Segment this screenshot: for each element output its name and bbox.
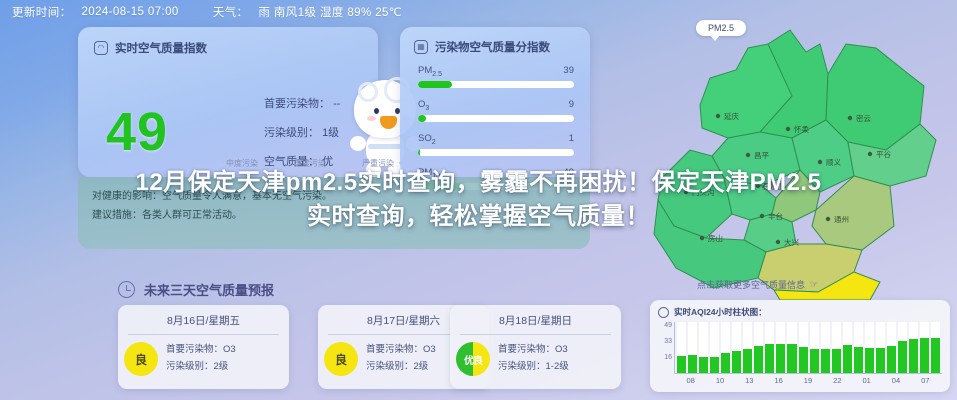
chart-bar-fill: [832, 349, 841, 373]
chart-bar: [810, 322, 819, 373]
pollutant-o3-track: [418, 115, 574, 122]
chart-bar: [865, 322, 874, 373]
svg-text:昌平: 昌平: [754, 151, 769, 160]
pollutant-o3-header: O3 9: [418, 99, 574, 112]
forecast-card-day3[interactable]: 8月18日/星期日 优良 首要污染物：O3 污染级别：1-2级: [450, 305, 621, 389]
chart-bar-fill: [776, 344, 785, 373]
svg-text:怀柔: 怀柔: [794, 124, 809, 134]
pollutant-o3-fill: [418, 115, 426, 122]
forecast-level-day3: 污染级别：1-2级: [498, 359, 569, 376]
forecast-pollutant-day2: 首要污染物：O3: [366, 342, 436, 359]
pollutant-so2-fill: [418, 149, 420, 156]
forecast-lines-day1: 首要污染物：O3 污染级别：2级: [166, 342, 236, 375]
pollutant-pm25-fill: [418, 81, 452, 88]
health-impact-label: 对健康的影响：: [92, 191, 162, 202]
beijing-district-map[interactable]: 延庆 怀柔 密云 昌平 顺义 平谷 门头沟 石景山 丰台 通州 房山 大兴: [640, 0, 957, 300]
chart-bar-fill: [710, 357, 719, 373]
chart-bar-fill: [887, 346, 896, 373]
chart-xtick: 07: [911, 376, 940, 385]
chart-bar: [821, 322, 830, 373]
chart-bar: [743, 322, 752, 373]
forecast-card-day1[interactable]: 8月16日/星期五 良 首要污染物：O3 污染级别：2级: [118, 305, 289, 389]
pollutant-pm25-track: [418, 81, 574, 88]
aqi-card-header: ◠ 实时空气质量指数: [94, 40, 207, 56]
chart-bar-fill: [876, 348, 885, 373]
chart-bar-fill: [699, 357, 708, 373]
chart-bar-fill: [688, 355, 697, 373]
health-advice-panel: 对健康的影响：空气质量令人满意，基本无空气污染。 建议措施：各类人群可正常活动。: [78, 177, 590, 249]
chart-bar-fill: [765, 344, 774, 373]
chart-bar: [721, 322, 730, 373]
chart-bar-fill: [843, 345, 852, 373]
chart-bar: [710, 322, 719, 373]
chart-header: 实时AQI24小时柱状图：: [658, 306, 942, 318]
svg-text:通州: 通州: [834, 214, 849, 224]
forecast-lines-day3: 首要污染物：O3 污染级别：1-2级: [498, 342, 569, 375]
pollutant-so2-value: 1: [569, 133, 574, 146]
pollutant-card-title: 污染物空气质量分指数: [435, 39, 550, 55]
grid-icon: ▦: [414, 40, 428, 54]
scale-label-moderate: 中度污染: [226, 158, 258, 174]
realtime-aqi-card[interactable]: ◠ 实时空气质量指数 49 首要污染物： -- 污染级别： 1级 空气质量： 优: [78, 27, 378, 177]
chart-bar: [765, 322, 774, 373]
health-impact-text: 空气质量令人满意，基本无空气污染。: [162, 191, 332, 202]
chart-bar-fill: [732, 351, 741, 373]
chart-bar: [931, 322, 940, 373]
chart-x-axis: 081013161922010407: [674, 374, 942, 385]
aqi-24h-chart-card[interactable]: 实时AQI24小时柱状图： 49 33 16 08101316192201040…: [650, 300, 950, 392]
chart-icon: [658, 307, 669, 318]
svg-text:平谷: 平谷: [876, 150, 891, 159]
suggested-measure-text: 各类人群可正常活动。: [142, 210, 242, 221]
cursor-icon: ☞: [810, 279, 818, 290]
chart-bar: [854, 322, 863, 373]
pollutant-row-o3: O3 9: [418, 99, 574, 122]
chart-ytick-1: 33: [664, 338, 672, 345]
chart-xtick: 08: [676, 376, 705, 385]
chart-xtick: 22: [823, 376, 852, 385]
chart-bar-fill: [743, 349, 752, 373]
pollutant-o3-name: O3: [418, 99, 429, 112]
chart-xtick: 10: [705, 376, 734, 385]
forecast-body-day1: 良 首要污染物：O3 污染级别：2级: [118, 335, 289, 376]
forecast-pollutant-day3: 首要污染物：O3: [498, 342, 569, 359]
svg-text:大兴: 大兴: [784, 237, 799, 247]
forecast-pollutant-day1: 首要污染物：O3: [166, 342, 236, 359]
svg-text:石景山: 石景山: [762, 181, 785, 191]
health-impact-line: 对健康的影响：空气质量令人满意，基本无空气污染。: [92, 187, 576, 206]
pollutant-index-card[interactable]: ▦ 污染物空气质量分指数 PM2.5 39 O3 9: [400, 27, 590, 177]
chart-title: 实时AQI24小时柱状图：: [674, 306, 767, 318]
map-svg: 延庆 怀柔 密云 昌平 顺义 平谷 门头沟 石景山 丰台 通州 房山 大兴: [640, 0, 957, 300]
scale-label-severe: 严重污染: [362, 158, 394, 174]
chart-bar: [677, 322, 686, 373]
pollutant-o3-value: 9: [569, 99, 574, 112]
update-time-value: 2024-08-15 07:00: [82, 6, 179, 18]
forecast-date-day1: 8月16日/星期五: [128, 305, 279, 335]
chart-bar-fill: [821, 349, 830, 373]
mascot-curl-left: [358, 82, 378, 102]
chart-bar-fill: [865, 348, 874, 373]
chart-bar: [832, 322, 841, 373]
chart-bar: [787, 322, 796, 373]
update-time-label: 更新时间：: [12, 4, 72, 20]
aqi-row-primary-pollutant: 首要污染物： --: [264, 95, 340, 111]
aqi-icon: ◠: [94, 41, 108, 55]
aqi-primary-pollutant-value: --: [333, 98, 340, 110]
chart-ytick-0: 49: [664, 322, 672, 329]
pollutant-row-pm25: PM2.5 39: [418, 65, 574, 88]
forecast-level-day1: 污染级别：2级: [166, 359, 236, 376]
svg-text:房山: 房山: [708, 233, 723, 243]
pollutant-row-so2: SO2 1: [418, 133, 574, 156]
chart-bar: [843, 322, 852, 373]
chart-bar: [799, 322, 808, 373]
chart-bar-fill: [810, 349, 819, 373]
chart-bar-fill: [721, 353, 730, 373]
forecast-lines-day2: 首要污染物：O3 污染级别：2级: [366, 342, 436, 375]
chart-bar: [920, 322, 929, 373]
chart-xtick: 04: [881, 376, 910, 385]
chart-bar-fill: [754, 346, 763, 373]
chart-bar-fill: [909, 339, 918, 373]
forecast-level-day2: 污染级别：2级: [366, 359, 436, 376]
chart-bar-fill: [931, 338, 940, 373]
pollutant-so2-name: SO2: [418, 133, 436, 146]
chart-xtick: 01: [852, 376, 881, 385]
chart-bar: [887, 322, 896, 373]
chart-bar: [876, 322, 885, 373]
svg-text:延庆: 延庆: [724, 111, 739, 121]
mascot-belt: [368, 144, 402, 149]
chart-xtick: 19: [793, 376, 822, 385]
chart-bar-fill: [854, 347, 863, 373]
pollutant-pm25-header: PM2.5 39: [418, 65, 574, 78]
chart-bar: [688, 322, 697, 373]
map-districts: [654, 30, 936, 300]
svg-text:门头沟: 门头沟: [692, 187, 715, 197]
chart-xtick: 13: [735, 376, 764, 385]
svg-text:密云: 密云: [856, 113, 871, 123]
forecast-section-header: 未来三天空气质量预报: [118, 280, 274, 299]
mascot-mouth: [380, 116, 397, 129]
dashboard-root: 更新时间： 2024-08-15 07:00 天气： 雨 南风1级 湿度 89%…: [0, 0, 957, 400]
suggested-measure-line: 建议措施：各类人群可正常活动。: [92, 206, 576, 225]
svg-text:顺义: 顺义: [826, 158, 841, 167]
forecast-badge-day3: 优良: [456, 342, 490, 376]
forecast-title: 未来三天空气质量预报: [144, 280, 274, 299]
chart-y-axis: 49 33 16: [658, 322, 674, 374]
aqi-scale-labels: 中度污染 重度污染 严重污染: [78, 158, 590, 174]
chart-bar: [909, 322, 918, 373]
aqi-primary-pollutant-label: 首要污染物：: [264, 98, 330, 110]
aqi-value: 49: [106, 105, 168, 159]
chart-bar-fill: [787, 344, 796, 373]
aqi-row-pollution-level: 污染级别： 1级: [264, 124, 340, 140]
chart-bar: [699, 322, 708, 373]
chart-bar-fill: [677, 356, 686, 373]
mascot-cheek-left: [367, 116, 376, 121]
chart-plot: 49 33 16: [658, 322, 942, 374]
forecast-date-day3: 8月18日/星期日: [460, 305, 611, 335]
forecast-body-day3: 优良 首要污染物：O3 污染级别：1-2级: [450, 335, 621, 376]
mascot-arm-left: [350, 136, 366, 151]
weather-label: 天气：: [213, 4, 249, 20]
scale-label-heavy: 重度污染: [294, 158, 326, 174]
map-footer[interactable]: 点击获取更多空气质量信息 ☞: [697, 278, 818, 291]
chart-ytick-2: 16: [664, 354, 672, 361]
chart-bars: [674, 322, 942, 374]
map-footer-text: 点击获取更多空气质量信息: [697, 278, 805, 291]
aqi-pollution-level-label: 污染级别：: [264, 127, 319, 139]
chart-bar-fill: [799, 347, 808, 373]
pollutant-pm25-value: 39: [563, 65, 574, 78]
chart-bar: [754, 322, 763, 373]
chart-bar-fill: [920, 338, 929, 373]
forecast-badge-day1: 良: [124, 342, 158, 376]
map-tooltip-pm25[interactable]: PM2.5: [696, 20, 746, 36]
chart-bar-fill: [898, 341, 907, 373]
pollutant-card-header: ▦ 污染物空气质量分指数: [414, 39, 550, 55]
aqi-card-title: 实时空气质量指数: [115, 40, 207, 56]
chart-bar: [776, 322, 785, 373]
mascot-eye-left: [374, 108, 379, 114]
pollutant-so2-header: SO2 1: [418, 133, 574, 146]
clock-icon: [118, 281, 135, 298]
chart-xtick: 16: [764, 376, 793, 385]
pollutant-so2-track: [418, 149, 574, 156]
chart-bar: [898, 322, 907, 373]
forecast-badge-day2: 良: [324, 342, 358, 376]
pollutant-pm25-name: PM2.5: [418, 65, 442, 78]
chart-bar: [732, 322, 741, 373]
svg-text:丰台: 丰台: [768, 211, 783, 221]
aqi-pollution-level-value: 1级: [322, 127, 339, 139]
weather-value: 雨 南风1级 湿度 89% 25℃: [258, 4, 402, 20]
suggested-measure-label: 建议措施：: [92, 210, 142, 221]
